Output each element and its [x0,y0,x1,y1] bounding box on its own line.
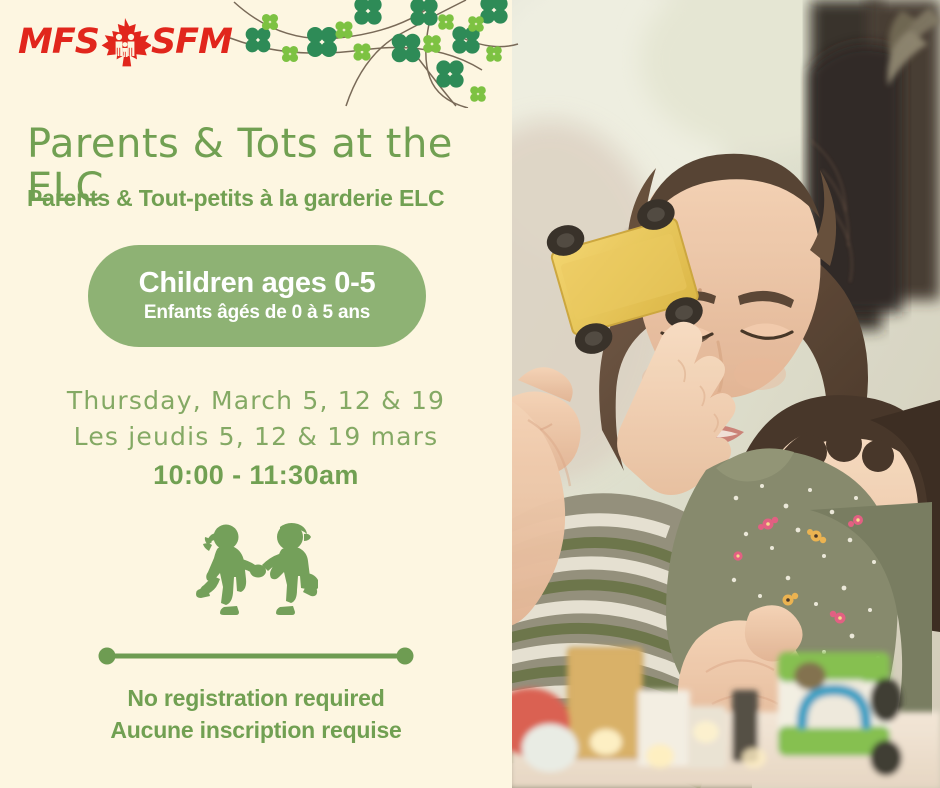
poster-canvas: MFS SFM [0,0,940,788]
logo-text-sfm: SFM [151,25,232,60]
dotted-end-divider [98,647,414,665]
clover-vine-decoration-icon [228,0,520,108]
registration-note: No registration required Aucune inscript… [0,683,512,746]
age-badge-label-fr: Enfants âgés de 0 à 5 ans [144,302,370,325]
logo-text-mfs: MFS [18,25,99,60]
age-badge: Children ages 0-5 Enfants âgés de 0 à 5 … [88,245,426,347]
maple-leaf-family-icon [99,17,151,67]
registration-note-en: No registration required [0,683,512,715]
info-panel: MFS SFM [0,0,512,788]
schedule-time: 10:00 - 11:30am [0,457,512,493]
registration-note-fr: Aucune inscription requise [0,715,512,747]
two-children-holding-hands-icon [196,521,318,615]
age-badge-label-en: Children ages 0-5 [139,267,376,300]
page-title-fr: Parents & Tout-petits à la garderie ELC [27,185,497,213]
schedule-date-fr: Les jeudis 5, 12 & 19 mars [0,419,512,455]
mfs-sfm-logo: MFS SFM [18,17,232,67]
schedule-date-en: Thursday, March 5, 12 & 19 [0,383,512,419]
schedule-block: Thursday, March 5, 12 & 19 Les jeudis 5,… [0,383,512,493]
mother-and-toddler-photo [510,0,940,788]
